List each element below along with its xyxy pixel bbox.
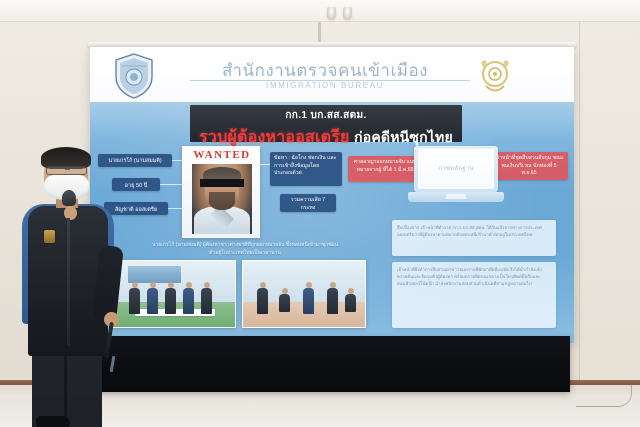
press-table-photo [112, 260, 236, 328]
ceiling [0, 0, 640, 22]
laptop-illustration: ภาพหลักฐาน [408, 146, 504, 216]
headline-red-part: รวบผู้ต้องหาออสเตรีย [199, 129, 349, 146]
wanted-poster: WANTED [182, 146, 260, 238]
gold-royal-emblem-icon [474, 55, 516, 97]
photo2-officer [303, 288, 314, 314]
laptop-screen-text: ภาพหลักฐาน [418, 163, 494, 173]
photo1-officer [201, 288, 212, 314]
presenter-shoe [36, 416, 70, 427]
photo1-backdrop-banner [128, 266, 182, 283]
spotlight-right-icon [343, 7, 352, 20]
arrest-scene-photo [242, 260, 366, 328]
suspect-caption: นายเกรโก้ (นามสมมติ) ผู้ต้องหาชาวต่างชาต… [150, 242, 340, 258]
spotlight-left-icon [327, 7, 336, 20]
organization-title-en: IMMIGRATION BUREAU [185, 81, 465, 90]
screen-base-skirt [92, 336, 570, 392]
photo1-officer [165, 288, 176, 314]
suspect-photo [192, 164, 252, 234]
detail-text-block-1: สืบเนื่องจาก เจ้าหน้าที่ตำรวจ กก.1 บก.สส… [392, 220, 556, 256]
wall-corner-line [579, 22, 580, 382]
leader-line-age [160, 184, 184, 185]
microphone-stand [67, 218, 70, 346]
photo2-officer [327, 288, 338, 314]
laptop-lid: ภาพหลักฐาน [414, 146, 498, 192]
laser-pointer-beam [110, 356, 115, 372]
photo1-officer [183, 288, 194, 314]
wanted-poster-title: WANTED [183, 149, 260, 161]
screen-mount-pole [318, 22, 321, 44]
detail-text-block-2: เจ้าหน้าที่จึงทำการสืบสวนหาข่าวจนทราบที่… [392, 262, 556, 328]
photo2-officer [257, 288, 268, 314]
projection-screen: สำนักงานตรวจคนเข้าเมือง IMMIGRATION BURE… [90, 47, 574, 343]
presenter-badge [44, 230, 55, 243]
slide-body: กก.1 บก.สส.สตม. รวบผู้ต้องหาออสเตรีย ก่อ… [90, 102, 574, 343]
presenter [8, 150, 126, 427]
photo2-person-seated [279, 294, 290, 312]
photo-beard [209, 192, 235, 210]
photo1-officer [129, 288, 140, 314]
laptop-screen: ภาพหลักฐาน [418, 149, 494, 189]
laptop-trackpad [446, 194, 466, 199]
power-cable [576, 383, 632, 407]
presenter-left-hand [64, 206, 77, 220]
leader-line-charge [260, 164, 270, 165]
photo-censor-bar [200, 179, 244, 187]
eyeglasses-icon [46, 166, 87, 175]
police-shield-emblem-icon [114, 53, 154, 99]
slide-header: สำนักงานตรวจคนเข้าเมือง IMMIGRATION BURE… [90, 47, 574, 102]
slide-title-banner: กก.1 บก.สส.สตม. รวบผู้ต้องหาออสเตรีย ก่อ… [190, 105, 462, 142]
microphone-icon [62, 190, 76, 206]
right-wall-panel [580, 22, 640, 382]
charge-box: ข้อหา : ฉ้อโกง ฟอกเงิน และ การเข้าถึงข้อ… [270, 152, 342, 186]
screenshot-stage: สำนักงานตรวจคนเข้าเมือง IMMIGRATION BURE… [0, 0, 640, 427]
photo1-officer [147, 288, 158, 314]
photo2-person-seated [345, 294, 356, 312]
unit-line: กก.1 บก.สส.สตม. [190, 108, 462, 123]
headline-white-part: ก่อคดีหนีซุกไทย [354, 129, 453, 145]
count-box: รวมความเสีย 7 กระทง [280, 194, 336, 212]
